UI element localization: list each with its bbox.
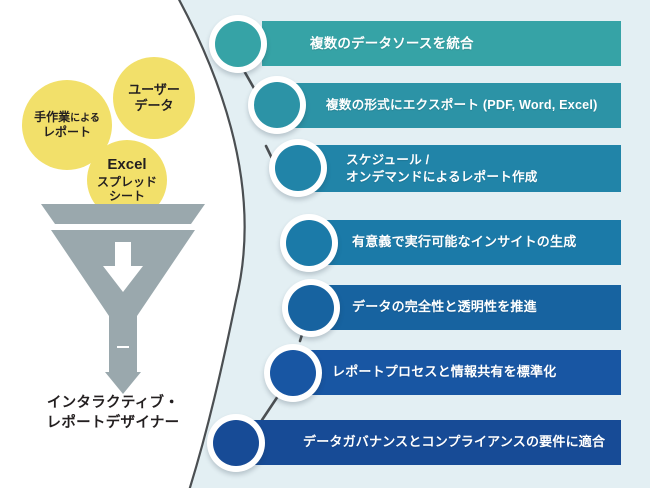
funnel-caption: インタラクティブ・ レポートデザイナー — [8, 394, 218, 433]
source-manual-line2: レポート — [43, 125, 91, 139]
feature-label-2: 複数の形式にエクスポート (PDF, Word, Excel) — [326, 97, 597, 113]
feature-bar-3[interactable]: スケジュール / オンデマンドによるレポート作成 — [300, 145, 621, 192]
source-bubble-user-data[interactable]: ユーザー データ — [113, 57, 195, 139]
feature-node-3[interactable] — [269, 139, 327, 197]
feature-bar-7[interactable]: データガバナンスとコンプライアンスの要件に適合 — [247, 420, 621, 465]
feature-label-3: スケジュール / オンデマンドによるレポート作成 — [346, 152, 538, 184]
feature-node-6-disc — [270, 350, 316, 396]
source-excel-line1: Excel — [107, 156, 146, 173]
feature-label-7: データガバナンスとコンプライアンスの要件に適合 — [303, 434, 605, 451]
source-user-line2: データ — [134, 98, 173, 113]
feature-node-7-disc — [213, 420, 259, 466]
feature-bar-4[interactable]: 有意義で実行可能なインサイトの生成 — [310, 220, 621, 265]
source-manual-line1b: による — [70, 113, 100, 124]
source-bubble-user-data-label: ユーザー データ — [128, 82, 180, 114]
feature-label-3-line2: オンデマンドによるレポート作成 — [346, 170, 538, 184]
funnel-icon — [33, 198, 213, 408]
feature-node-4-disc — [286, 220, 332, 266]
feature-node-5-disc — [288, 285, 334, 331]
feature-node-3-disc — [275, 145, 321, 191]
feature-bar-5[interactable]: データの完全性と透明性を推進 — [308, 285, 621, 330]
feature-node-1[interactable] — [209, 15, 267, 73]
source-bubble-excel-label: Excel スプレッド シート — [97, 156, 157, 204]
source-bubble-manual-reports-label: 手作業による レポート — [34, 110, 100, 140]
feature-label-4: 有意義で実行可能なインサイトの生成 — [352, 234, 576, 251]
feature-label-3-line1: スケジュール / — [346, 153, 429, 167]
feature-node-5[interactable] — [282, 279, 340, 337]
feature-label-1: 複数のデータソースを統合 — [310, 35, 474, 52]
feature-node-6[interactable] — [264, 344, 322, 402]
feature-node-4[interactable] — [280, 214, 338, 272]
source-user-line1: ユーザー — [128, 82, 180, 97]
source-manual-line1a: 手作業 — [34, 110, 70, 124]
feature-node-2-disc — [254, 82, 300, 128]
funnel-caption-line2: レポートデザイナー — [47, 415, 180, 431]
feature-node-1-disc — [215, 21, 261, 67]
feature-bar-2[interactable]: 複数の形式にエクスポート (PDF, Word, Excel) — [282, 83, 621, 128]
infographic-canvas: 複数のデータソースを統合 複数の形式にエクスポート (PDF, Word, Ex… — [0, 0, 650, 488]
feature-bar-6[interactable]: レポートプロセスと情報共有を標準化 — [288, 350, 621, 395]
feature-label-5: データの完全性と透明性を推進 — [352, 299, 537, 316]
feature-node-2[interactable] — [248, 76, 306, 134]
feature-bar-1[interactable]: 複数のデータソースを統合 — [262, 21, 621, 66]
funnel-rim — [41, 204, 205, 224]
feature-label-6: レポートプロセスと情報共有を標準化 — [332, 364, 556, 381]
funnel-caption-line1: インタラクティブ・ — [47, 395, 179, 411]
source-excel-line2: スプレッド — [97, 175, 157, 189]
